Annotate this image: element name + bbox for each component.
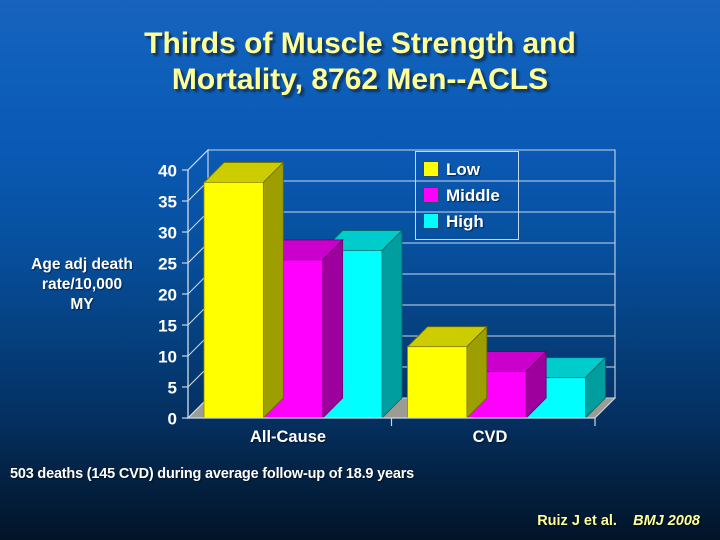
slide-canvas: Thirds of Muscle Strength and Mortality,… bbox=[0, 0, 720, 540]
title-line-1: Thirds of Muscle Strength and bbox=[144, 27, 576, 60]
y-axis-tick-label: 5 bbox=[168, 379, 177, 398]
bar-group bbox=[204, 162, 605, 418]
citation-authors: Ruiz J et al. bbox=[537, 513, 617, 529]
chart-plot-area: 0510152025303540 bbox=[150, 148, 620, 448]
bar-side-face bbox=[323, 240, 343, 418]
y-axis-tick-label: 30 bbox=[158, 224, 177, 243]
bar-low-cvd[interactable] bbox=[408, 327, 487, 418]
y-axis-tick-label: 0 bbox=[168, 410, 177, 429]
legend-item-high[interactable]: High bbox=[423, 208, 512, 234]
gridline-depth bbox=[188, 150, 208, 170]
legend-item-middle[interactable]: Middle bbox=[423, 182, 512, 208]
title-line-2: Mortality, 8762 Men--ACLS bbox=[0, 62, 720, 98]
legend-swatch-high bbox=[423, 213, 439, 229]
bar-chart-svg: 0510152025303540 bbox=[150, 148, 620, 448]
bar-front-face bbox=[204, 182, 263, 418]
legend-item-low[interactable]: Low bbox=[423, 156, 512, 182]
y-axis-title-line-2: rate/10,000 bbox=[6, 275, 158, 295]
bar-side-face bbox=[263, 162, 283, 418]
legend-swatch-middle bbox=[423, 187, 439, 203]
citation: Ruiz J et al. BMJ 2008 bbox=[0, 513, 700, 529]
citation-journal: BMJ 2008 bbox=[633, 513, 700, 529]
legend-label-middle: Middle bbox=[446, 187, 500, 204]
x-axis-label-all-cause: All-Cause bbox=[218, 428, 358, 447]
y-axis-tick-label: 10 bbox=[158, 348, 177, 367]
bar-low-all-cause[interactable] bbox=[204, 162, 283, 418]
x-axis-label-cvd: CVD bbox=[420, 428, 560, 447]
footnote-text: 503 deaths (145 CVD) during average foll… bbox=[10, 466, 414, 482]
y-axis-tick-label: 15 bbox=[158, 317, 177, 336]
chart-legend: Low Middle High bbox=[415, 151, 519, 240]
legend-label-low: Low bbox=[446, 161, 480, 178]
y-axis-title-line-3: MY bbox=[6, 295, 158, 315]
y-axis-tick-label: 20 bbox=[158, 286, 177, 305]
y-axis-tick-label: 35 bbox=[158, 193, 177, 212]
page-title: Thirds of Muscle Strength and Mortality,… bbox=[0, 26, 720, 98]
bar-front-face bbox=[408, 347, 467, 418]
y-axis-tick-label: 40 bbox=[158, 162, 177, 181]
y-axis-title-line-1: Age adj death bbox=[6, 255, 158, 275]
y-axis-title: Age adj death rate/10,000 MY bbox=[6, 255, 158, 315]
legend-swatch-low bbox=[423, 161, 439, 177]
y-axis-tick-label: 25 bbox=[158, 255, 177, 274]
bar-side-face bbox=[382, 231, 402, 418]
legend-label-high: High bbox=[446, 213, 484, 230]
